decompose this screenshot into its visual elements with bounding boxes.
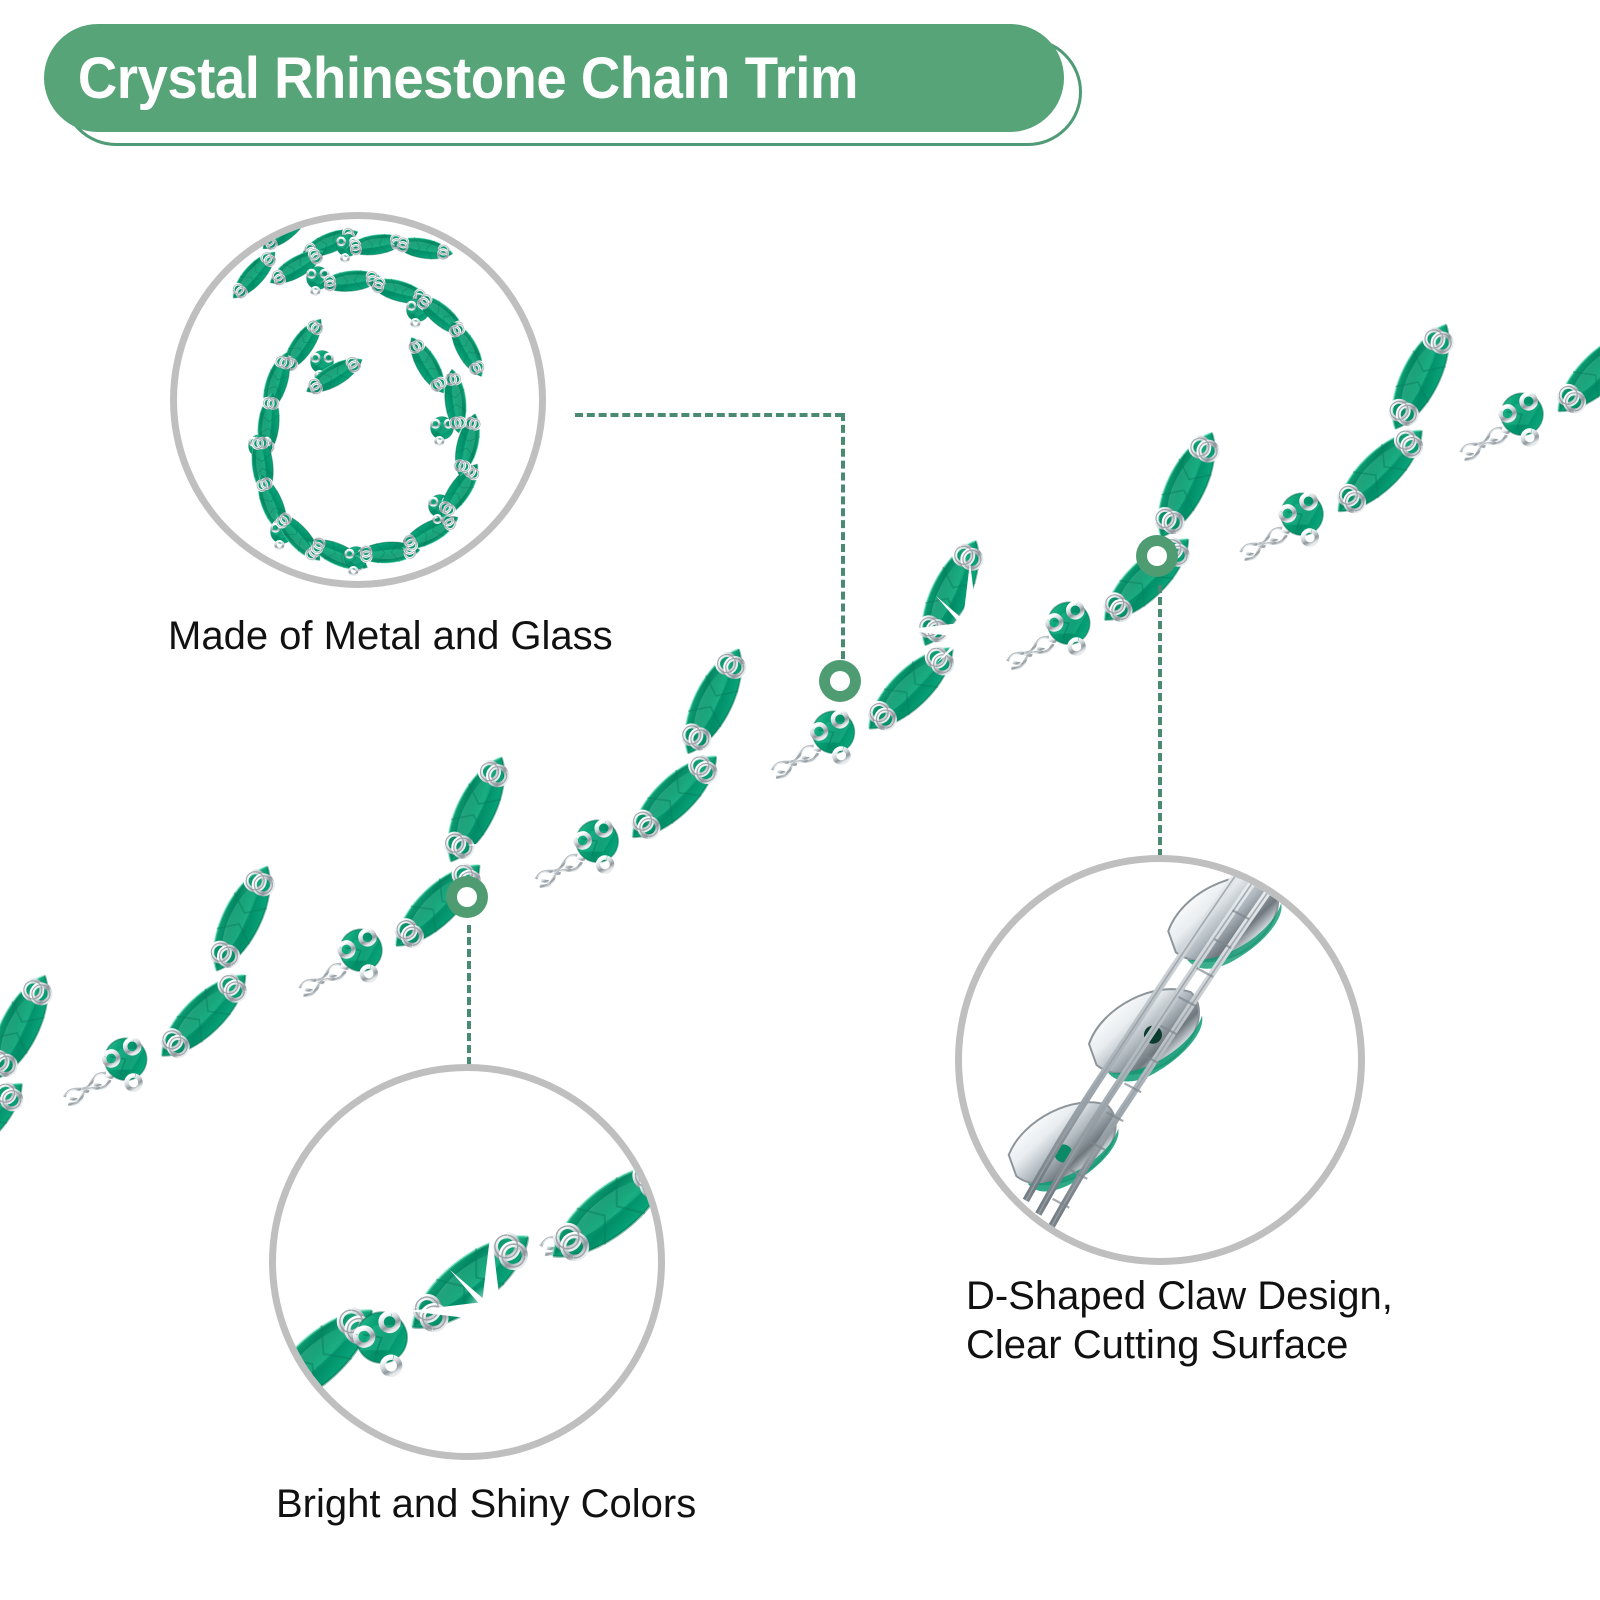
title-banner: Crystal Rhinestone Chain Trim xyxy=(44,24,1064,132)
connector-claw-vertical xyxy=(1158,585,1162,857)
callout-label-metal-and-glass: Made of Metal and Glass xyxy=(168,612,688,661)
connector-metal-glass-horizontal xyxy=(575,413,843,417)
callout-circle-bright-and-shiny[interactable] xyxy=(269,1064,665,1460)
claw-back-closeup xyxy=(962,862,1365,1265)
callout-marker-bright-shiny[interactable] xyxy=(446,876,488,918)
callout-label-bright-and-shiny: Bright and Shiny Colors xyxy=(276,1480,796,1529)
claw-settings-back xyxy=(962,862,1365,1232)
sparkle-highlight xyxy=(1242,372,1368,498)
callout-label-d-shaped-claw: D-Shaped Claw Design, Clear Cutting Surf… xyxy=(966,1272,1486,1370)
callout-marker-metal-glass[interactable] xyxy=(819,660,861,702)
connector-metal-glass-vertical xyxy=(841,413,845,683)
connector-bright-shiny-vertical xyxy=(467,925,471,1065)
coiled-chain xyxy=(226,219,490,577)
sparkle-highlight xyxy=(902,562,1038,698)
infographic-canvas: Crystal Rhinestone Chain Trim xyxy=(0,0,1600,1600)
coiled-chain-illustration xyxy=(177,219,546,588)
bright-shiny-closeup xyxy=(276,1071,665,1460)
page-title: Crystal Rhinestone Chain Trim xyxy=(44,45,858,112)
callout-circle-metal-and-glass[interactable] xyxy=(170,212,546,588)
callout-circle-d-shaped-claw[interactable] xyxy=(955,855,1365,1265)
title-banner-pill: Crystal Rhinestone Chain Trim xyxy=(44,24,1064,132)
callout-marker-d-claw[interactable] xyxy=(1136,535,1178,577)
